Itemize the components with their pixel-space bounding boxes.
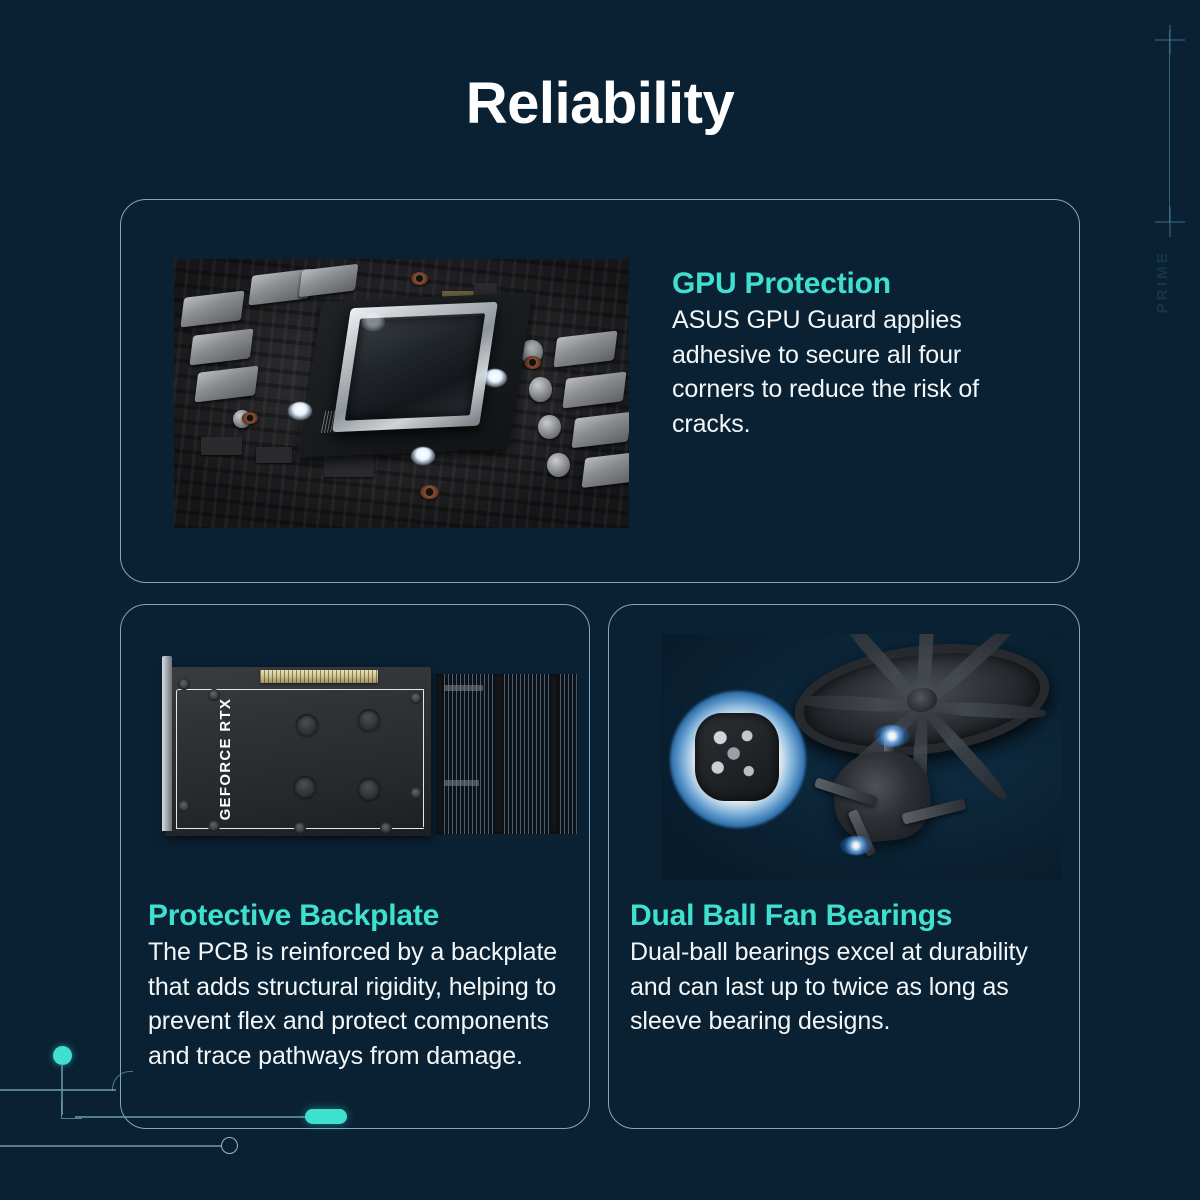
fan-bearings-heading: Dual Ball Fan Bearings: [630, 898, 1072, 933]
fan-bearings-text-block: Dual Ball Fan Bearings Dual-ball bearing…: [630, 898, 1072, 1039]
smd-component: [256, 447, 292, 463]
gpu-protection-body: ASUS GPU Guard applies adhesive to secur…: [672, 303, 1008, 441]
circuit-node-dot: [53, 1046, 72, 1065]
fin-divider: [436, 674, 444, 834]
fan-bearings-body: Dual-ball bearings excel at durability a…: [630, 935, 1072, 1039]
edge-decoration: PRIME: [1140, 0, 1200, 340]
vram-module: [581, 452, 629, 487]
page-root: Reliability: [0, 0, 1200, 1200]
smd-component: [324, 453, 374, 477]
fin-divider: [550, 674, 559, 834]
circuit-elbow: [112, 1071, 133, 1091]
fin-label-strip: [444, 685, 483, 692]
gpu-protection-heading: GPU Protection: [672, 266, 1008, 301]
bearing-highlight-spark: [874, 725, 910, 747]
capacitor: [538, 415, 561, 439]
backplate-image: GEFORCE RTX: [152, 636, 582, 858]
page-title: Reliability: [0, 74, 1200, 135]
mounting-screw: [420, 485, 439, 499]
circuit-decoration: [0, 1030, 620, 1200]
adhesive-glow-corner: [288, 402, 312, 420]
edge-vertical-line: [1169, 30, 1170, 222]
pcie-gold-connector: [260, 670, 378, 682]
circuit-trace: [75, 1116, 310, 1118]
fan-bearing-image: [662, 634, 1062, 880]
capacitor: [529, 377, 552, 401]
mounting-screw: [524, 356, 541, 369]
plus-marker-icon: [1155, 25, 1185, 55]
geforce-rtx-label: GEFORCE RTX: [217, 685, 234, 820]
gpu-die-image: [174, 259, 629, 528]
backplate-screw: [178, 678, 190, 690]
fin-divider: [494, 674, 504, 834]
backplate-heading: Protective Backplate: [148, 898, 580, 933]
backplate-edge-line: [423, 689, 425, 827]
smd-component: [201, 437, 242, 456]
gpu-metal-frame: [332, 302, 497, 432]
plus-marker-icon: [1155, 207, 1185, 237]
io-bracket: [162, 656, 172, 831]
backplate-screw: [178, 800, 190, 812]
capacitor: [547, 453, 570, 477]
fin-label-strip: [444, 780, 478, 786]
gpu-protection-text-block: GPU Protection ASUS GPU Guard applies ad…: [672, 266, 1008, 441]
backplate-standoff: [296, 714, 318, 736]
circuit-trace: [0, 1145, 222, 1147]
adhesive-glow-corner: [361, 313, 385, 331]
circuit-trace: [0, 1089, 116, 1091]
backplate-screw: [410, 692, 422, 704]
ball-bearing-cartridge: [695, 713, 779, 802]
prime-watermark-label: PRIME: [1154, 250, 1171, 314]
adhesive-glow-corner: [411, 447, 435, 465]
backplate-screw: [410, 787, 422, 799]
circuit-pill-node: [305, 1109, 347, 1124]
backplate-outline: [176, 689, 424, 829]
backplate-standoff: [294, 776, 316, 798]
circuit-ring-node: [221, 1137, 238, 1154]
